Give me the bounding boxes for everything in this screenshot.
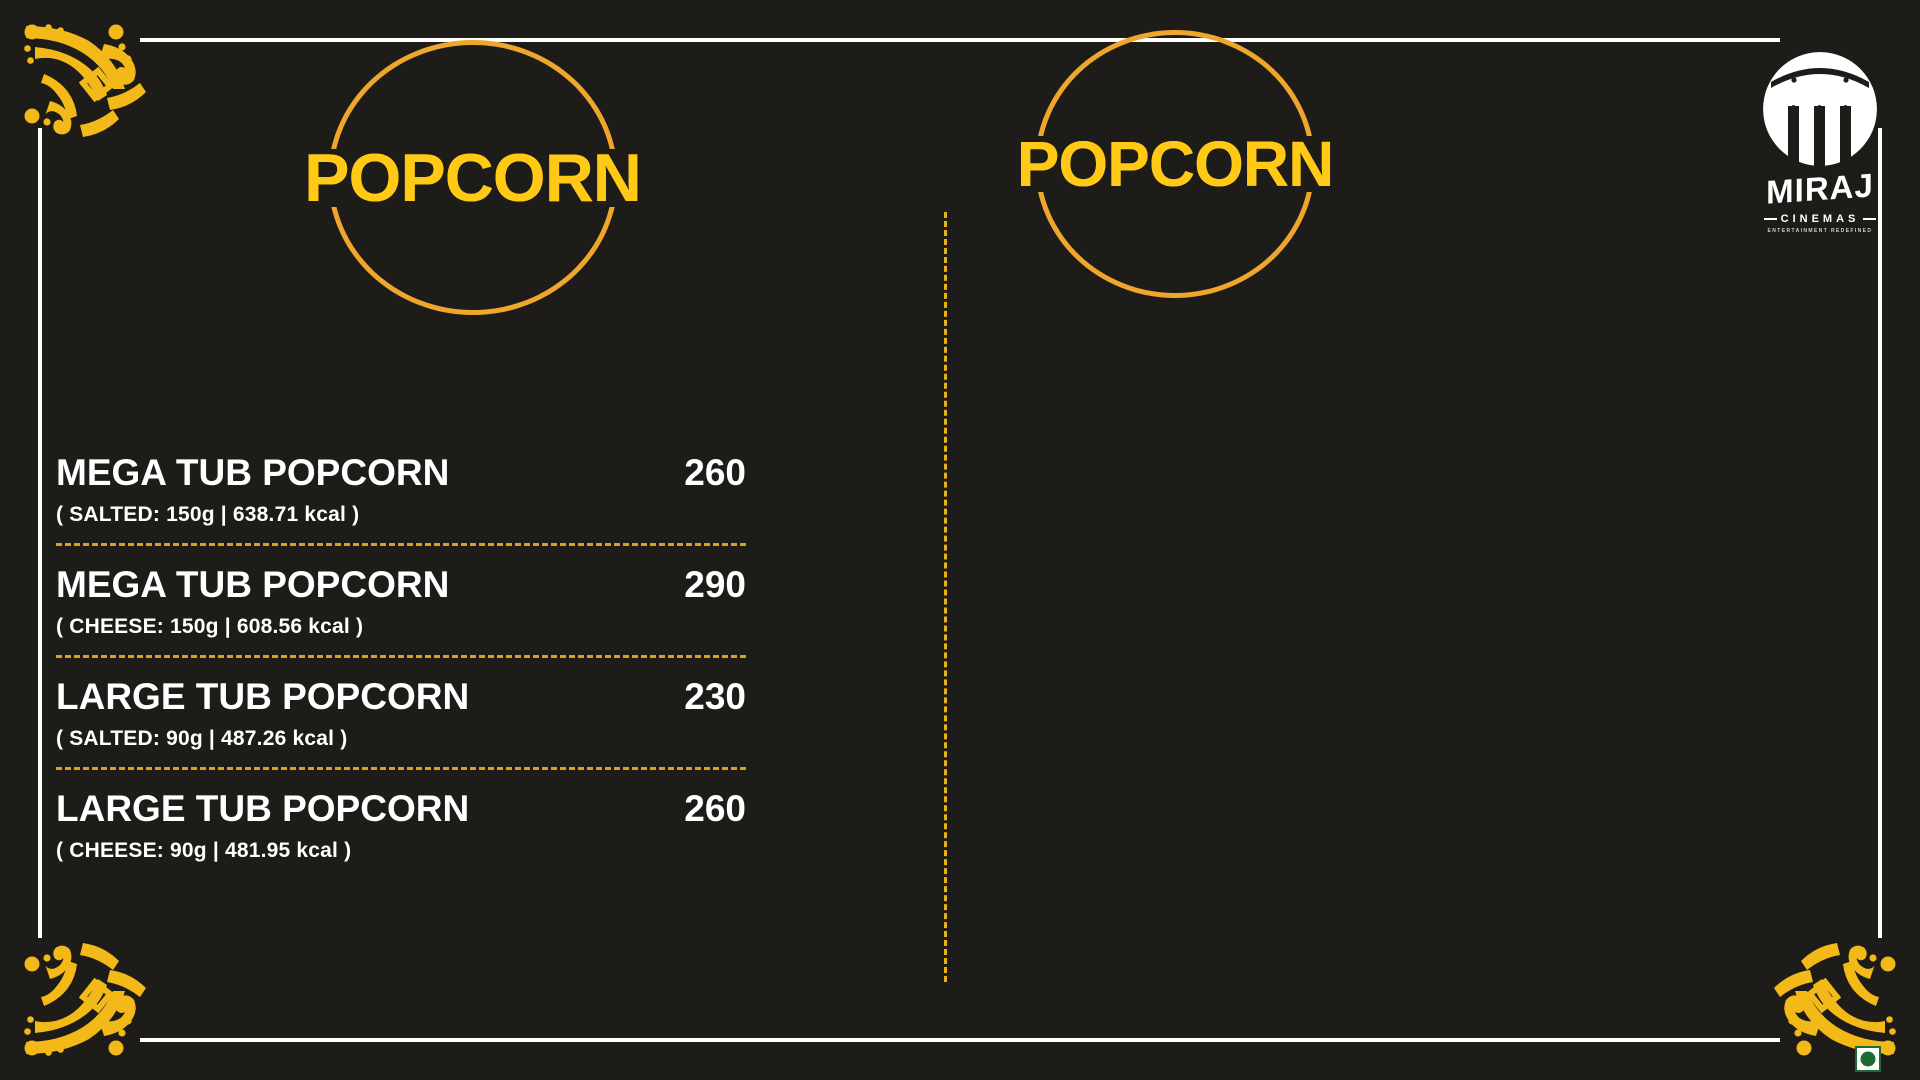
popcorn-heading-left: POPCORN	[0, 40, 945, 315]
item-description: ( CHEESE: 90g | 481.95 kcal )	[56, 839, 746, 863]
corner-ornament-bottom-right	[1756, 916, 1906, 1066]
item-price: 260	[684, 452, 746, 494]
item-price: 230	[684, 676, 746, 718]
item-description: ( SALTED: 90g | 487.26 kcal )	[56, 727, 746, 751]
vegetarian-mark-dot	[1861, 1052, 1876, 1067]
menu-item[interactable]: MEGA TUB POPCORN 260 ( SALTED: 150g | 63…	[56, 452, 746, 527]
heading-label-right: POPCORN	[1017, 127, 1334, 201]
item-price: 260	[684, 788, 746, 830]
item-separator	[56, 655, 746, 658]
item-description: ( SALTED: 150g | 638.71 kcal )	[56, 503, 746, 527]
item-name: LARGE TUB POPCORN	[56, 788, 469, 830]
logo-rule-left	[1764, 218, 1777, 220]
popcorn-menu-board: POPCORN MEGA TUB POPCORN 260 ( SALTED: 1…	[0, 0, 1920, 1080]
frame-bottom-line	[140, 1038, 1780, 1042]
menu-list-left: MEGA TUB POPCORN 260 ( SALTED: 150g | 63…	[56, 452, 746, 863]
logo-subtitle: CINEMAS	[1756, 213, 1884, 225]
item-name: MEGA TUB POPCORN	[56, 452, 449, 494]
item-description: ( CHEESE: 150g | 608.56 kcal )	[56, 615, 746, 639]
logo-wordmark: MIRAJ	[1756, 166, 1884, 213]
item-name: MEGA TUB POPCORN	[56, 564, 449, 606]
menu-item[interactable]: MEGA TUB POPCORN 290 ( CHEESE: 150g | 60…	[56, 564, 746, 639]
column-divider	[944, 212, 947, 982]
menu-item[interactable]: LARGE TUB POPCORN 260 ( CHEESE: 90g | 48…	[56, 788, 746, 863]
logo-rule-right	[1863, 218, 1876, 220]
logo-tagline: ENTERTAINMENT REDEFINED	[1756, 228, 1884, 234]
item-price: 290	[684, 564, 746, 606]
vegetarian-mark-icon	[1855, 1046, 1881, 1072]
miraj-cinemas-logo: MIRAJ CINEMAS ENTERTAINMENT REDEFINED	[1756, 50, 1884, 250]
item-name: LARGE TUB POPCORN	[56, 676, 469, 718]
item-separator	[56, 543, 746, 546]
logo-subtitle-text: CINEMAS	[1781, 213, 1860, 225]
logo-circle-icon	[1761, 50, 1879, 168]
menu-item[interactable]: LARGE TUB POPCORN 230 ( SALTED: 90g | 48…	[56, 676, 746, 751]
heading-label-left: POPCORN	[304, 139, 641, 217]
corner-ornament-bottom-left	[14, 916, 164, 1066]
item-separator	[56, 767, 746, 770]
